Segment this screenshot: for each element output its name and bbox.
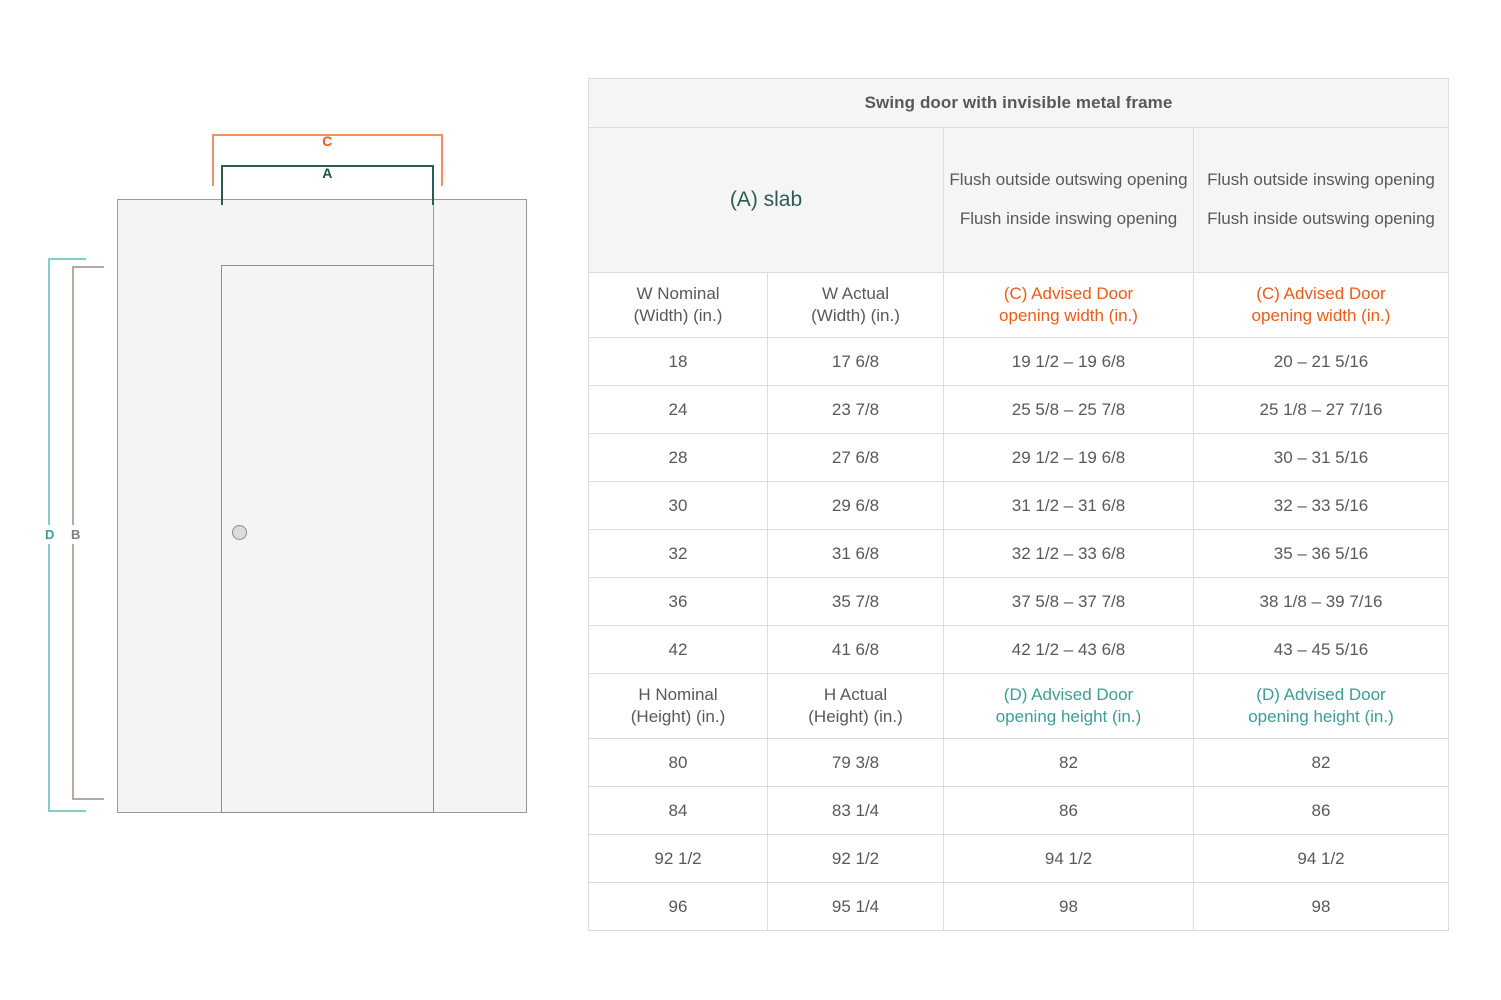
cell-c-outswing: 31 1/2 – 31 6/8 [944, 482, 1194, 530]
table-row: 18 17 6/8 19 1/2 – 19 6/8 20 – 21 5/16 [589, 338, 1449, 386]
group-header-outswing-line2: Flush inside inswing opening [948, 208, 1189, 231]
cell-w-actual: 31 6/8 [768, 530, 944, 578]
height-subheader-row: H Nominal (Height) (in.) H Actual (Heigh… [589, 674, 1449, 739]
cell-h-actual: 92 1/2 [768, 835, 944, 883]
cell-c-outswing: 29 1/2 – 19 6/8 [944, 434, 1194, 482]
table-row: 42 41 6/8 42 1/2 – 43 6/8 43 – 45 5/16 [589, 626, 1449, 674]
dimension-label-c: C [212, 133, 443, 149]
group-header-slab: (A) slab [589, 128, 944, 273]
cell-w-actual: 23 7/8 [768, 386, 944, 434]
cell-d-outswing: 98 [944, 883, 1194, 931]
col-header-line2: (Height) (in.) [772, 706, 939, 728]
cell-c-inswing: 43 – 45 5/16 [1194, 626, 1449, 674]
cell-w-actual: 17 6/8 [768, 338, 944, 386]
col-header-line2: opening height (in.) [1198, 706, 1444, 728]
table-row: 36 35 7/8 37 5/8 – 37 7/8 38 1/8 – 39 7/… [589, 578, 1449, 626]
door-elevation-diagram: C A D B [0, 0, 570, 1000]
cell-h-nominal: 96 [589, 883, 768, 931]
door-size-spec-table: Swing door with invisible metal frame (A… [588, 78, 1448, 931]
cell-d-inswing: 98 [1194, 883, 1449, 931]
spacer [1198, 192, 1444, 208]
col-header-c-width-inswing: (C) Advised Door opening width (in.) [1194, 273, 1449, 338]
wall-panel-right-jamb [433, 199, 527, 813]
col-header-h-nominal: H Nominal (Height) (in.) [589, 674, 768, 739]
cell-d-inswing: 94 1/2 [1194, 835, 1449, 883]
table-row: 96 95 1/4 98 98 [589, 883, 1449, 931]
cell-d-outswing: 82 [944, 739, 1194, 787]
col-header-w-nominal: W Nominal (Width) (in.) [589, 273, 768, 338]
cell-d-outswing: 86 [944, 787, 1194, 835]
group-header-inswing-line2: Flush inside outswing opening [1198, 208, 1444, 231]
col-header-w-actual: W Actual (Width) (in.) [768, 273, 944, 338]
cell-w-nominal: 32 [589, 530, 768, 578]
col-header-line2: opening width (in.) [948, 305, 1189, 327]
cell-d-inswing: 86 [1194, 787, 1449, 835]
cell-c-outswing: 42 1/2 – 43 6/8 [944, 626, 1194, 674]
cell-c-outswing: 25 5/8 – 25 7/8 [944, 386, 1194, 434]
cell-w-actual: 41 6/8 [768, 626, 944, 674]
cell-h-nominal: 84 [589, 787, 768, 835]
cell-c-outswing: 37 5/8 – 37 7/8 [944, 578, 1194, 626]
table-row: 80 79 3/8 82 82 [589, 739, 1449, 787]
col-header-d-height-inswing: (D) Advised Door opening height (in.) [1194, 674, 1449, 739]
cell-d-inswing: 82 [1194, 739, 1449, 787]
cell-c-inswing: 25 1/8 – 27 7/16 [1194, 386, 1449, 434]
cell-w-actual: 35 7/8 [768, 578, 944, 626]
cell-c-inswing: 38 1/8 – 39 7/16 [1194, 578, 1449, 626]
dimension-label-d: D [44, 525, 56, 544]
group-header-row: (A) slab Flush outside outswing opening … [589, 128, 1449, 273]
col-header-line1: H Nominal [593, 684, 763, 706]
table-title-row: Swing door with invisible metal frame [589, 79, 1449, 128]
cell-w-actual: 27 6/8 [768, 434, 944, 482]
col-header-line2: (Height) (in.) [593, 706, 763, 728]
door-handle-icon [232, 525, 247, 540]
cell-c-outswing: 19 1/2 – 19 6/8 [944, 338, 1194, 386]
col-header-line1: (C) Advised Door [948, 283, 1189, 305]
cell-h-nominal: 92 1/2 [589, 835, 768, 883]
table-row: 84 83 1/4 86 86 [589, 787, 1449, 835]
cell-c-inswing: 30 – 31 5/16 [1194, 434, 1449, 482]
col-header-line1: (D) Advised Door [1198, 684, 1444, 706]
table-row: 24 23 7/8 25 5/8 – 25 7/8 25 1/8 – 27 7/… [589, 386, 1449, 434]
col-header-line2: (Width) (in.) [593, 305, 763, 327]
cell-c-inswing: 32 – 33 5/16 [1194, 482, 1449, 530]
col-header-line2: opening width (in.) [1198, 305, 1444, 327]
cell-h-nominal: 80 [589, 739, 768, 787]
col-header-c-width-outswing: (C) Advised Door opening width (in.) [944, 273, 1194, 338]
cell-w-nominal: 18 [589, 338, 768, 386]
cell-w-nominal: 28 [589, 434, 768, 482]
cell-h-actual: 95 1/4 [768, 883, 944, 931]
group-header-outswing: Flush outside outswing opening Flush ins… [944, 128, 1194, 273]
col-header-line1: W Nominal [593, 283, 763, 305]
spec-table: Swing door with invisible metal frame (A… [588, 78, 1449, 931]
cell-w-actual: 29 6/8 [768, 482, 944, 530]
cell-h-actual: 79 3/8 [768, 739, 944, 787]
cell-w-nominal: 30 [589, 482, 768, 530]
door-slab [221, 265, 434, 813]
table-row: 92 1/2 92 1/2 94 1/2 94 1/2 [589, 835, 1449, 883]
dimension-label-b: B [70, 525, 82, 544]
spacer [948, 192, 1189, 208]
table-row: 32 31 6/8 32 1/2 – 33 6/8 35 – 36 5/16 [589, 530, 1449, 578]
group-header-inswing-line1: Flush outside inswing opening [1198, 169, 1444, 192]
page-title: Swing door with invisible metal frame [589, 79, 1449, 128]
col-header-line1: (C) Advised Door [1198, 283, 1444, 305]
cell-w-nominal: 36 [589, 578, 768, 626]
cell-c-inswing: 35 – 36 5/16 [1194, 530, 1449, 578]
col-header-h-actual: H Actual (Height) (in.) [768, 674, 944, 739]
table-row: 28 27 6/8 29 1/2 – 19 6/8 30 – 31 5/16 [589, 434, 1449, 482]
col-header-line1: W Actual [772, 283, 939, 305]
col-header-line2: (Width) (in.) [772, 305, 939, 327]
group-header-inswing: Flush outside inswing opening Flush insi… [1194, 128, 1449, 273]
col-header-d-height-outswing: (D) Advised Door opening height (in.) [944, 674, 1194, 739]
width-subheader-row: W Nominal (Width) (in.) W Actual (Width)… [589, 273, 1449, 338]
cell-h-actual: 83 1/4 [768, 787, 944, 835]
cell-c-outswing: 32 1/2 – 33 6/8 [944, 530, 1194, 578]
dimension-label-a: A [221, 165, 434, 181]
col-header-line1: H Actual [772, 684, 939, 706]
cell-d-outswing: 94 1/2 [944, 835, 1194, 883]
col-header-line2: opening height (in.) [948, 706, 1189, 728]
cell-c-inswing: 20 – 21 5/16 [1194, 338, 1449, 386]
cell-w-nominal: 42 [589, 626, 768, 674]
table-row: 30 29 6/8 31 1/2 – 31 6/8 32 – 33 5/16 [589, 482, 1449, 530]
cell-w-nominal: 24 [589, 386, 768, 434]
col-header-line1: (D) Advised Door [948, 684, 1189, 706]
group-header-outswing-line1: Flush outside outswing opening [948, 169, 1189, 192]
